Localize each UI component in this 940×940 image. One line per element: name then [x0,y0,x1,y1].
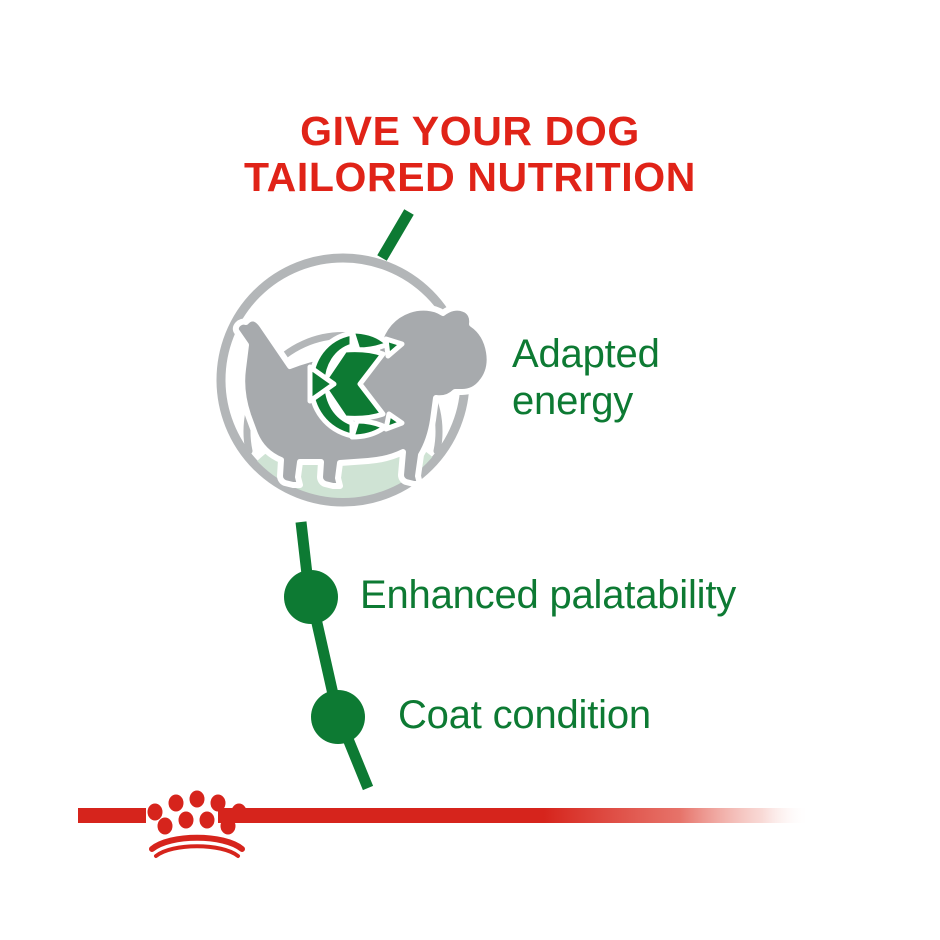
bullet-dot-palatability [284,570,338,624]
benefit-label-coat-condition: Coat condition [398,692,651,739]
royal-canin-crown-icon [148,791,247,857]
bullet-dot-coat [311,690,365,744]
poster-canvas: GIVE YOUR DOG TAILORED NUTRITION [0,0,940,940]
illustration-layer [0,0,940,940]
footer-bar-left [78,808,146,823]
benefit-label-adapted-energy: Adapted energy [512,331,660,425]
dog-in-circle-icon [221,258,490,592]
footer-bar-right [218,808,810,823]
footer-band [78,791,810,857]
benefit-label-enhanced-palatability: Enhanced palatability [360,572,736,619]
